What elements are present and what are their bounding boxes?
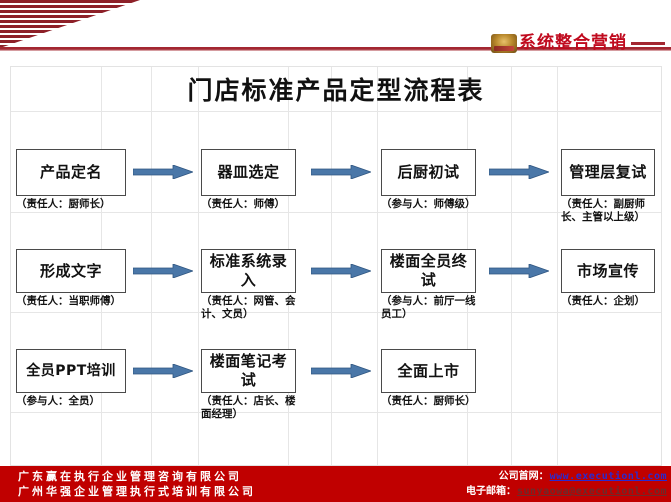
footer-email-label: 电子邮箱：: [466, 484, 516, 499]
process-flow-diagram: 产品定名 （责任人：厨师长） 器皿选定 （责任人：师傅） 后厨初试 （: [11, 111, 661, 465]
flow-arrow-icon: [133, 165, 193, 179]
flow-step-label: 楼面全员终试: [381, 249, 476, 293]
flow-step-label: 楼面笔记考试: [201, 349, 296, 393]
flow-arrow-icon: [311, 165, 371, 179]
flow-step-label: 全员PPT培训: [16, 349, 126, 393]
flow-step[interactable]: 楼面全员终试 （参与人：前厅一线员工）: [381, 249, 476, 321]
footer-company-line-2: 广州华强企业管理执行式培训有限公司: [18, 484, 256, 499]
brand-lockup: 系统整合营销: [491, 32, 665, 54]
flow-step-note: （责任人：师傅）: [201, 198, 296, 211]
flow-step[interactable]: 市场宣传 （责任人：企划）: [561, 249, 655, 308]
footer-contact-block: 公司首网： www.executionl.com 电子邮箱： sunyaowa@…: [466, 469, 667, 499]
worksheet-area: 门店标准产品定型流程表 产品定名 （责任人：厨师长） 器皿选定 （责任人：师傅）: [10, 66, 662, 466]
flow-arrow-icon: [311, 364, 371, 378]
flow-step-label: 全面上市: [381, 349, 476, 393]
footer-website-link[interactable]: www.executionl.com: [550, 469, 667, 484]
flow-step-note: （责任人：店长、楼面经理）: [201, 395, 296, 421]
flow-step-note: （参与人：前厅一线员工）: [381, 295, 476, 321]
flow-step-note: （责任人：当职师傅）: [16, 295, 126, 308]
footer-email-link[interactable]: sunyaowa@executionl.com: [517, 484, 667, 499]
flow-step-note: （参与人：全员）: [16, 395, 126, 408]
flow-step[interactable]: 全员PPT培训 （参与人：全员）: [16, 349, 126, 408]
flow-step-note: （责任人：网管、会计、文员）: [201, 295, 296, 321]
flow-step[interactable]: 标准系统录入 （责任人：网管、会计、文员）: [201, 249, 296, 321]
flow-arrow-icon: [133, 264, 193, 278]
flow-step-note: （责任人：企划）: [561, 295, 655, 308]
flow-step-label: 管理层复试: [561, 149, 655, 196]
flow-arrow-icon: [311, 264, 371, 278]
flow-step-label: 市场宣传: [561, 249, 655, 293]
slide-header: 系统整合营销: [0, 0, 671, 52]
flow-step-note: （责任人：副厨师长、主管以上级）: [561, 198, 655, 224]
footer-company-line-1: 广东赢在执行企业管理咨询有限公司: [18, 469, 256, 484]
footer-email-row: 电子邮箱： sunyaowa@executionl.com: [466, 484, 667, 499]
footer-company-block: 广东赢在执行企业管理咨询有限公司 广州华强企业管理执行式培训有限公司: [18, 469, 256, 499]
flow-step-label: 后厨初试: [381, 149, 476, 196]
flow-step-note: （责任人：厨师长）: [16, 198, 126, 211]
footer-website-row: 公司首网： www.executionl.com: [466, 469, 667, 484]
flow-row: 形成文字 （责任人：当职师傅） 标准系统录入 （责任人：网管、会计、文员） 楼面…: [11, 249, 661, 349]
decorative-stripes: [0, 0, 140, 48]
flow-arrow-icon: [489, 264, 549, 278]
flow-step-note: （参与人：师傅级）: [381, 198, 476, 211]
flow-arrow-icon: [133, 364, 193, 378]
flow-step-label: 标准系统录入: [201, 249, 296, 293]
brand-rule: [631, 42, 665, 45]
flow-step[interactable]: 楼面笔记考试 （责任人：店长、楼面经理）: [201, 349, 296, 421]
flow-step[interactable]: 后厨初试 （参与人：师傅级）: [381, 149, 476, 211]
flow-step-label: 器皿选定: [201, 149, 296, 196]
flow-step-label: 产品定名: [16, 149, 126, 196]
footer-website-label: 公司首网：: [499, 469, 549, 484]
brand-title: 系统整合营销: [519, 34, 627, 53]
flow-row: 产品定名 （责任人：厨师长） 器皿选定 （责任人：师傅） 后厨初试 （: [11, 149, 661, 249]
page-title: 门店标准产品定型流程表: [11, 67, 661, 111]
brand-emblem-icon: [491, 34, 517, 53]
flow-step[interactable]: 管理层复试 （责任人：副厨师长、主管以上级）: [561, 149, 655, 224]
flow-step[interactable]: 器皿选定 （责任人：师傅）: [201, 149, 296, 211]
flow-step-note: （责任人：厨师长）: [381, 395, 476, 408]
flow-arrow-icon: [489, 165, 549, 179]
flow-step[interactable]: 形成文字 （责任人：当职师傅）: [16, 249, 126, 308]
flow-row: 全员PPT培训 （参与人：全员） 楼面笔记考试 （责任人：店长、楼面经理） 全面…: [11, 349, 661, 449]
flow-step[interactable]: 产品定名 （责任人：厨师长）: [16, 149, 126, 211]
slide-footer: 广东赢在执行企业管理咨询有限公司 广州华强企业管理执行式培训有限公司 公司首网：…: [0, 466, 671, 502]
flow-step[interactable]: 全面上市 （责任人：厨师长）: [381, 349, 476, 408]
flow-step-label: 形成文字: [16, 249, 126, 293]
